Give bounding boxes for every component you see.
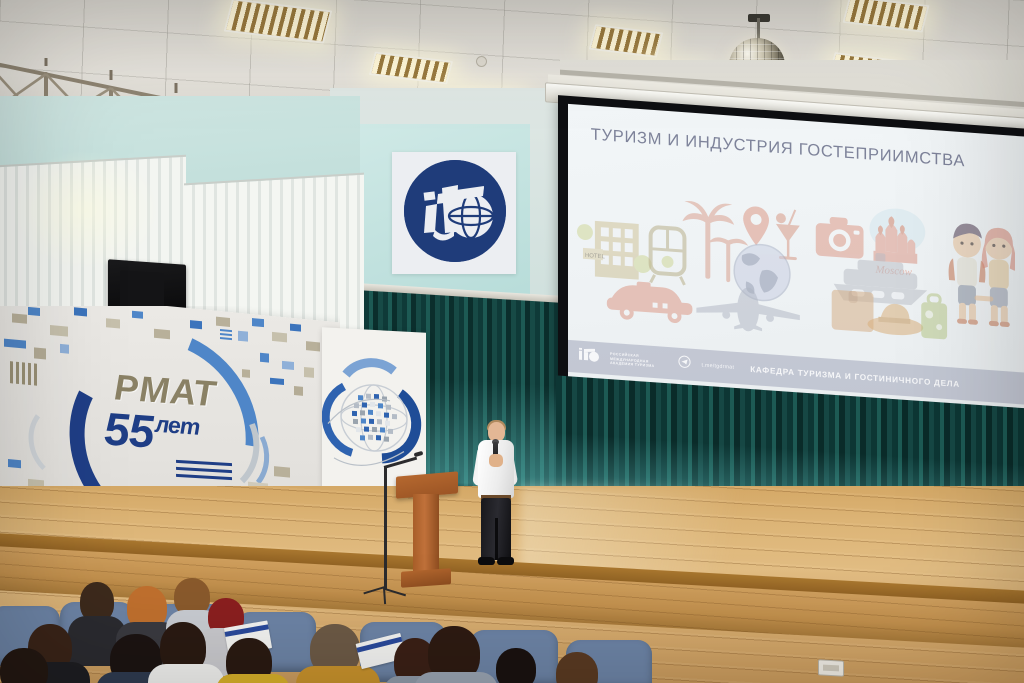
audience-body xyxy=(216,674,290,683)
hotel-building-icon: HOTEL xyxy=(577,220,652,281)
smoke-detector-icon xyxy=(476,56,487,67)
svg-text:HOTEL: HOTEL xyxy=(585,253,606,260)
audience-body xyxy=(414,672,498,683)
banner-anniversary-number: 55 xyxy=(103,402,154,457)
podium xyxy=(396,474,458,590)
speaker-shoe-right xyxy=(497,557,514,565)
audience xyxy=(0,576,1024,683)
luggage-icon xyxy=(921,294,947,340)
speaker-person xyxy=(470,422,520,582)
speaker-leg-gap xyxy=(495,518,498,560)
audience-head xyxy=(0,648,48,683)
slide-footer-academy: РОССИЙСКАЯ МЕЖДУНАРОДНАЯ АКАДЕМИЯ ТУРИЗМ… xyxy=(610,352,654,369)
slide-artwork: HOTEL xyxy=(577,174,1015,355)
presentation-slide: ТУРИЗМ И ИНДУСТРИЯ ГОСТЕПРИИМСТВА xyxy=(568,104,1024,425)
taxi-icon xyxy=(607,280,693,325)
slide-footer-telegram: t.me/tgdrmat xyxy=(701,362,734,370)
tram-icon xyxy=(651,227,685,285)
slide-title: ТУРИЗМ И ИНДУСТРИЯ ГОСТЕПРИИМСТВА xyxy=(591,126,1015,175)
audience-head xyxy=(496,648,536,683)
telegram-icon xyxy=(678,355,691,374)
sun-hat-icon xyxy=(868,302,924,337)
camera-icon xyxy=(816,216,864,259)
mic-stand-pole xyxy=(384,466,387,590)
speaker-shoe-left xyxy=(478,557,495,565)
location-pin-icon xyxy=(743,206,769,247)
suitcase-icon xyxy=(832,290,874,333)
projection-screen: ТУРИЗМ И ИНДУСТРИЯ ГОСТЕПРИИМСТВА xyxy=(558,95,1024,429)
banner-anniversary: 55лет xyxy=(103,401,200,462)
wall-light-glow xyxy=(10,150,160,270)
wall-logo-ito-icon xyxy=(404,160,506,262)
speaker-hands xyxy=(489,454,503,467)
conference-hall-photo: ТУРИЗМ И ИНДУСТРИЯ ГОСТЕПРИИМСТВА xyxy=(0,0,1024,683)
audience-body xyxy=(296,666,380,683)
banner-anniversary-word: лет xyxy=(155,410,200,439)
slide-footer-department: КАФЕДРА ТУРИЗМА И ГОСТИНИЧНОГО ДЕЛА xyxy=(750,364,960,388)
audience-body xyxy=(148,664,224,683)
slide-footer-logo-icon xyxy=(578,347,600,368)
traveler-girl-icon xyxy=(982,227,1015,328)
traveler-boy-icon xyxy=(949,222,986,325)
